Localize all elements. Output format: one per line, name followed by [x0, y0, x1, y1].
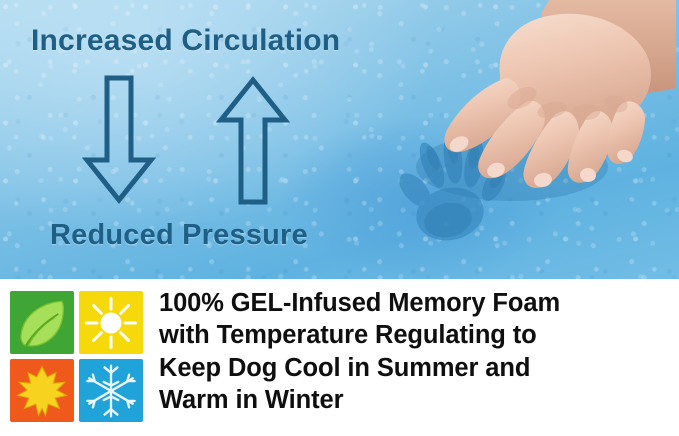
- arrow-down-icon: [82, 74, 156, 206]
- snowflake-icon: [82, 362, 140, 420]
- description-line-2: with Temperature Regulating to: [159, 319, 560, 351]
- label-reduced-pressure: Reduced Pressure: [50, 219, 308, 252]
- sun-icon: [83, 295, 139, 351]
- leaf-icon: [13, 294, 71, 352]
- description-line-1: 100% GEL-Infused Memory Foam: [159, 287, 560, 319]
- leaf-icon-tile: [10, 291, 74, 354]
- maple-leaf-icon-tile: [10, 359, 74, 422]
- product-feature-image: Increased Circulation Reduced Pressure: [0, 0, 679, 436]
- season-icon-grid: [10, 291, 143, 422]
- description-line-3: Keep Dog Cool in Summer and: [159, 352, 560, 384]
- maple-leaf-icon: [14, 363, 70, 419]
- description-line-4: Warm in Winter: [159, 384, 560, 416]
- hand-icon: [404, 0, 676, 207]
- gel-memory-foam-photo: Increased Circulation Reduced Pressure: [0, 0, 679, 279]
- arrow-up-icon: [216, 74, 290, 206]
- label-increased-circulation: Increased Circulation: [31, 24, 340, 58]
- snowflake-icon-tile: [79, 359, 143, 422]
- feature-description-panel: 100% GEL-Infused Memory Foam with Temper…: [0, 279, 679, 436]
- product-description: 100% GEL-Infused Memory Foam with Temper…: [159, 287, 560, 416]
- sun-icon-tile: [79, 291, 143, 354]
